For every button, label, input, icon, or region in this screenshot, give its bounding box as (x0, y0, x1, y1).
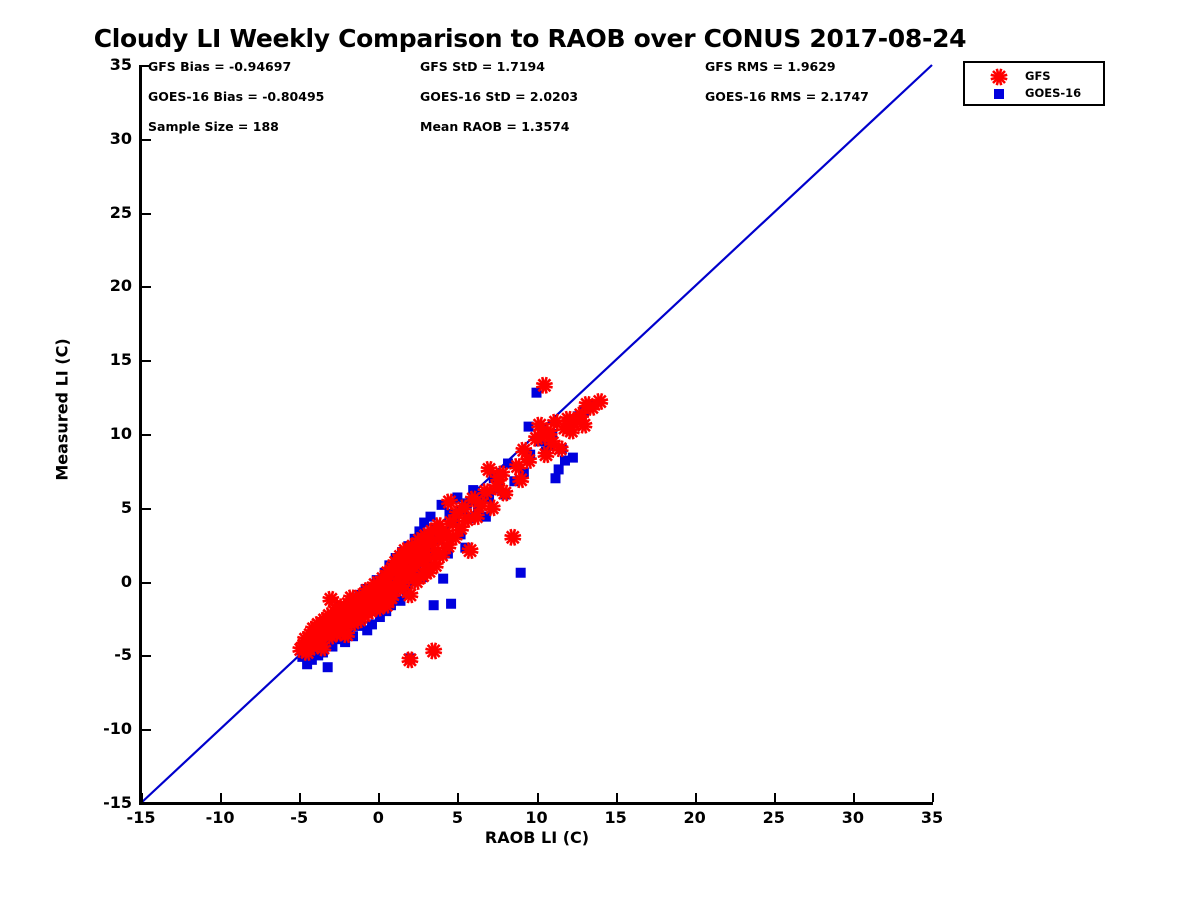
chart-title: Cloudy LI Weekly Comparison to RAOB over… (0, 24, 1060, 53)
y-tick (142, 65, 151, 67)
x-tick (932, 793, 934, 802)
y-tick-label: 0 (60, 572, 132, 591)
y-tick (142, 582, 151, 584)
y-tick (142, 360, 151, 362)
x-tick (537, 793, 539, 802)
y-tick-label: -5 (60, 645, 132, 664)
legend-marker-asterisk-icon (991, 69, 1007, 85)
x-tick (853, 793, 855, 802)
data-point (468, 485, 478, 495)
legend-box: GFSGOES-16 (963, 61, 1105, 106)
x-tick-label: 0 (348, 808, 408, 827)
legend-entry-gfs: GFS (1025, 68, 1081, 85)
x-tick (774, 793, 776, 802)
data-point (516, 568, 526, 578)
x-tick (141, 793, 143, 802)
y-tick (142, 286, 151, 288)
x-tick (299, 793, 301, 802)
x-tick (220, 793, 222, 802)
y-axis-label: Measured LI (C) (53, 310, 72, 510)
x-tick-label: 5 (427, 808, 487, 827)
data-point (550, 473, 560, 483)
data-point (554, 464, 564, 474)
y-tick-label: 20 (60, 276, 132, 295)
legend-entry-goes-16: GOES-16 (1025, 85, 1081, 102)
y-tick (142, 655, 151, 657)
y-tick (142, 434, 151, 436)
x-axis-line (141, 802, 933, 805)
data-point (323, 662, 333, 672)
y-tick-label: -10 (60, 719, 132, 738)
x-axis-label: RAOB LI (C) (141, 828, 933, 847)
y-tick (142, 803, 151, 805)
y-tick-label: -15 (60, 793, 132, 812)
data-point (536, 377, 552, 393)
data-point (425, 643, 441, 659)
data-point (438, 574, 448, 584)
y-tick (142, 508, 151, 510)
y-tick-label: 25 (60, 203, 132, 222)
chart-canvas: Cloudy LI Weekly Comparison to RAOB over… (0, 0, 1200, 900)
x-tick (457, 793, 459, 802)
y-tick (142, 729, 151, 731)
x-tick (695, 793, 697, 802)
data-point (446, 599, 456, 609)
x-tick (378, 793, 380, 802)
data-point (505, 529, 521, 545)
plot-area (141, 65, 932, 803)
y-tick-label: 35 (60, 55, 132, 74)
y-tick-label: 30 (60, 129, 132, 148)
x-tick-label: 30 (823, 808, 883, 827)
x-tick-label: 15 (586, 808, 646, 827)
y-tick (142, 213, 151, 215)
x-tick-label: -10 (190, 808, 250, 827)
x-tick-label: 25 (744, 808, 804, 827)
x-tick-label: -5 (269, 808, 329, 827)
data-point (429, 600, 439, 610)
legend-labels: GFSGOES-16 (1025, 68, 1081, 102)
legend-markers (977, 66, 1021, 105)
data-point (568, 453, 578, 463)
y-tick (142, 139, 151, 141)
x-tick-label: 20 (665, 808, 725, 827)
x-tick (616, 793, 618, 802)
series-gfs (293, 377, 608, 668)
legend-marker-square-icon (994, 89, 1004, 99)
x-tick-label: 35 (902, 808, 962, 827)
x-tick-label: 10 (507, 808, 567, 827)
